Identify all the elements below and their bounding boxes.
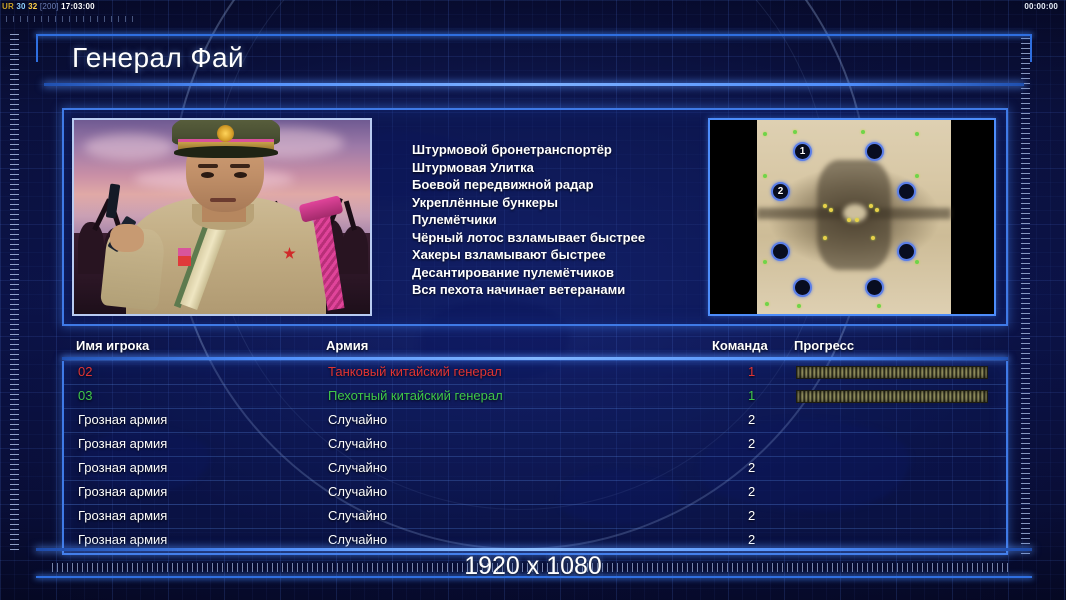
general-abilities-list: Штурмовой бронетранспортёр Штурмовая Ули…: [412, 142, 732, 299]
map-spawn-point[interactable]: [897, 242, 916, 261]
map-resource-marker: [855, 218, 859, 222]
cell-progress: [796, 390, 988, 403]
map-resource-marker: [915, 132, 919, 136]
game-lobby-screen: UR 30 32 [200] 17:03:00 00:00:00 Генерал…: [0, 0, 1066, 600]
portrait-eye-right: [234, 172, 247, 178]
map-terrain: 1 2: [757, 120, 951, 314]
cell-team: 2: [748, 532, 755, 547]
ruler-left: [10, 34, 19, 554]
cell-team: 2: [748, 412, 755, 427]
cell-team: 2: [748, 508, 755, 523]
frame-left-line: [36, 34, 38, 62]
ability-item: Чёрный лотос взламывает быстрее: [412, 230, 732, 247]
ability-item: Боевой передвижной радар: [412, 177, 732, 194]
map-resource-marker: [797, 304, 801, 308]
ability-item: Штурмовой бронетранспортёр: [412, 142, 732, 159]
portrait-cap-brim: [174, 146, 278, 158]
table-header-underline: [62, 357, 1008, 360]
portrait-soldier: [342, 226, 368, 274]
table-row[interactable]: 03Пехотный китайский генерал1: [64, 385, 1006, 409]
cell-army: Случайно: [328, 412, 387, 427]
ability-item: Вся пехота начинает ветеранами: [412, 282, 732, 299]
cell-progress: [796, 366, 988, 379]
portrait-soldier: [78, 222, 104, 274]
status-bracket: [200]: [40, 2, 59, 11]
map-spawn-point[interactable]: [897, 182, 916, 201]
status-right-clock: 00:00:00: [1024, 2, 1066, 11]
map-resource-marker: [793, 130, 797, 134]
map-resource-marker: [877, 304, 881, 308]
portrait-eye-left: [201, 172, 214, 178]
player-table-body: 02Танковый китайский генерал103Пехотный …: [62, 361, 1008, 555]
player-table-header: Имя игрока Армия Команда Прогресс: [62, 338, 1008, 358]
map-resource-marker: [763, 260, 767, 264]
cell-player-name: Грозная армия: [78, 436, 167, 451]
ability-item: Хакеры взламывают быстрее: [412, 247, 732, 264]
ability-item: Десантирование пулемётчиков: [412, 265, 732, 282]
cell-team: 1: [748, 364, 755, 379]
cell-player-name: Грозная армия: [78, 532, 167, 547]
frame-top-line: [36, 34, 1032, 36]
cell-army: Случайно: [328, 484, 387, 499]
portrait-cloud: [84, 134, 174, 160]
map-spawn-point[interactable]: 2: [771, 182, 790, 201]
portrait-hand: [110, 224, 144, 252]
title-panel: Генерал Фай: [44, 38, 1024, 86]
page-title: Генерал Фай: [72, 42, 244, 74]
cell-player-name: Грозная армия: [78, 460, 167, 475]
map-spawn-point[interactable]: [771, 242, 790, 261]
title-underline: [44, 83, 1024, 86]
map-resource-marker: [765, 302, 769, 306]
map-resource-marker: [915, 174, 919, 178]
cell-team: 2: [748, 436, 755, 451]
status-tag: UR: [2, 2, 14, 11]
cell-player-name: Грозная армия: [78, 412, 167, 427]
map-resource-marker: [869, 204, 873, 208]
ability-item: Пулемётчики: [412, 212, 732, 229]
portrait-mouth: [210, 198, 236, 202]
ability-item: Укреплённые бункеры: [412, 195, 732, 212]
column-header-progress: Прогресс: [794, 338, 854, 353]
map-resource-marker: [823, 236, 827, 240]
ability-item: Штурмовая Улитка: [412, 160, 732, 177]
portrait-cap-badge: [217, 125, 234, 142]
portrait-brow-left: [198, 164, 218, 168]
cell-player-name: Грозная армия: [78, 508, 167, 523]
footer-bar: [36, 548, 1032, 551]
map-resource-marker: [915, 260, 919, 264]
portrait-art: [74, 120, 370, 314]
general-info-panel: Штурмовой бронетранспортёр Штурмовая Ули…: [62, 108, 1008, 326]
cell-army: Случайно: [328, 508, 387, 523]
table-row[interactable]: Грозная армияСлучайно2: [64, 505, 1006, 529]
cell-team: 2: [748, 460, 755, 475]
column-header-team: Команда: [712, 338, 768, 353]
map-preview[interactable]: 1 2: [708, 118, 996, 316]
column-header-player: Имя игрока: [76, 338, 149, 353]
progress-bar: [796, 366, 988, 379]
cell-army: Случайно: [328, 460, 387, 475]
map-resource-marker: [875, 208, 879, 212]
map-resource-marker: [861, 130, 865, 134]
table-row[interactable]: Грозная армияСлучайно2: [64, 409, 1006, 433]
cell-army: Случайно: [328, 532, 387, 547]
general-portrait: [72, 118, 372, 316]
map-spawn-point[interactable]: 1: [793, 142, 812, 161]
resolution-label: 1920 x 1080: [0, 552, 1066, 581]
map-resource-marker: [871, 236, 875, 240]
column-header-army: Армия: [326, 338, 368, 353]
map-spawn-point[interactable]: [865, 142, 884, 161]
cell-team: 2: [748, 484, 755, 499]
status-value-2: 32: [28, 2, 37, 11]
map-spawn-point[interactable]: [865, 278, 884, 297]
progress-bar: [796, 390, 988, 403]
map-resource-marker: [763, 174, 767, 178]
cell-team: 1: [748, 388, 755, 403]
map-resource-marker: [829, 208, 833, 212]
map-resource-marker: [847, 218, 851, 222]
frame-right-line: [1030, 34, 1032, 62]
portrait-medal: [178, 248, 191, 266]
cell-player-name: 03: [78, 388, 92, 403]
map-resource-marker: [763, 132, 767, 136]
portrait-brow-right: [230, 164, 250, 168]
top-status-bar: UR 30 32 [200] 17:03:00 00:00:00: [0, 0, 1066, 13]
ruler-top-left: [6, 16, 136, 22]
cell-player-name: Грозная армия: [78, 484, 167, 499]
cell-army: Случайно: [328, 436, 387, 451]
map-resource-marker: [823, 204, 827, 208]
status-left: UR 30 32 [200] 17:03:00: [0, 2, 95, 11]
cell-player-name: 02: [78, 364, 92, 379]
cell-army: Пехотный китайский генерал: [328, 388, 503, 403]
map-spawn-point[interactable]: [793, 278, 812, 297]
status-value-1: 30: [16, 2, 25, 11]
status-clock: 17:03:00: [61, 2, 95, 11]
table-row[interactable]: 02Танковый китайский генерал1: [64, 361, 1006, 385]
cell-army: Танковый китайский генерал: [328, 364, 502, 379]
ruler-right: [1021, 38, 1030, 558]
table-row[interactable]: Грозная армияСлучайно2: [64, 481, 1006, 505]
table-row[interactable]: Грозная армияСлучайно2: [64, 433, 1006, 457]
table-row[interactable]: Грозная армияСлучайно2: [64, 457, 1006, 481]
